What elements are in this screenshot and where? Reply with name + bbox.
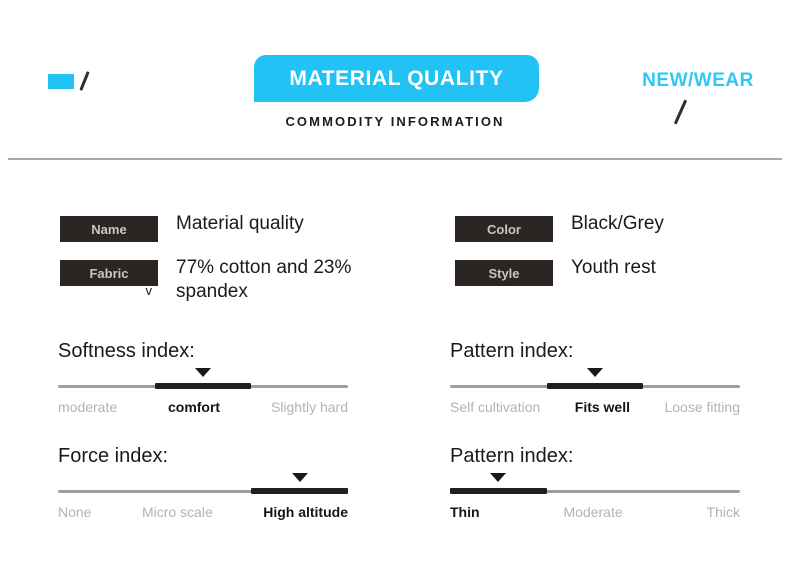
info-value-name: Material quality [176, 212, 304, 236]
slider-marker-icon[interactable] [195, 368, 211, 377]
chip-label: Fabric [89, 266, 128, 281]
slider-option[interactable]: Self cultivation [450, 399, 540, 415]
chip-style: Style [455, 260, 553, 286]
slider-force[interactable]: Force index: None Micro scale High altit… [58, 445, 348, 520]
brand-mark-left [48, 71, 92, 91]
slider-pattern-thick[interactable]: Pattern index: Thin Moderate Thick [450, 445, 740, 520]
slash-icon-wrapper [628, 99, 768, 125]
slider-track-active [547, 383, 644, 389]
info-row-style: Style Youth rest [455, 256, 664, 286]
slider-track[interactable] [450, 482, 740, 500]
info-row-color: Color Black/Grey [455, 212, 664, 242]
slider-options: moderate comfort Slightly hard [58, 399, 348, 415]
slider-marker-icon[interactable] [292, 473, 308, 482]
slider-option[interactable]: Moderate [563, 504, 622, 520]
info-value-color: Black/Grey [571, 212, 664, 236]
slider-track-active [450, 488, 547, 494]
slider-option[interactable]: High altitude [263, 504, 348, 520]
slider-track[interactable] [58, 482, 348, 500]
slider-title: Softness index: [58, 340, 348, 363]
slider-options: None Micro scale High altitude [58, 504, 348, 520]
slider-marker-icon[interactable] [490, 473, 506, 482]
slider-option[interactable]: Fits well [575, 399, 630, 415]
slider-track[interactable] [450, 377, 740, 395]
slider-softness[interactable]: Softness index: moderate comfort Slightl… [58, 340, 348, 415]
new-wear-label: NEW/WEAR [628, 70, 768, 92]
info-row-name: Name Material quality [60, 212, 386, 242]
slider-option[interactable]: Thin [450, 504, 480, 520]
chip-fabric: Fabric v [60, 260, 158, 286]
slider-option[interactable]: None [58, 504, 91, 520]
page-header: MATERIAL QUALITY COMMODITY INFORMATION N… [0, 0, 790, 158]
new-wear-mark: NEW/WEAR [628, 70, 768, 125]
material-quality-banner: MATERIAL QUALITY [254, 55, 539, 102]
slash-icon [78, 71, 92, 91]
info-row-fabric: Fabric v 77% cotton and 23% spandex [60, 256, 386, 305]
slider-option[interactable]: Thick [707, 504, 740, 520]
slider-options: Self cultivation Fits well Loose fitting [450, 399, 740, 415]
info-value-fabric: 77% cotton and 23% spandex [176, 256, 386, 305]
info-value-style: Youth rest [571, 256, 656, 280]
slider-option[interactable]: comfort [168, 399, 220, 415]
banner-title: MATERIAL QUALITY [289, 67, 503, 91]
slider-option[interactable]: Slightly hard [271, 399, 348, 415]
slider-marker-icon[interactable] [587, 368, 603, 377]
chip-name: Name [60, 216, 158, 242]
slider-option[interactable]: moderate [58, 399, 117, 415]
stray-glyph: v [146, 284, 153, 297]
slash-icon [672, 99, 690, 125]
chip-label: Name [91, 222, 126, 237]
slider-track-active [251, 488, 348, 494]
slider-options: Thin Moderate Thick [450, 504, 740, 520]
slider-track[interactable] [58, 377, 348, 395]
chip-label: Style [488, 266, 519, 281]
slider-title: Pattern index: [450, 445, 740, 468]
slider-title: Force index: [58, 445, 348, 468]
color-swatch-icon [48, 74, 74, 89]
slider-pattern-fit[interactable]: Pattern index: Self cultivation Fits wel… [450, 340, 740, 415]
slider-track-active [155, 383, 252, 389]
header-divider [8, 158, 782, 160]
info-column-left: Name Material quality Fabric v 77% cotto… [60, 212, 386, 319]
info-column-right: Color Black/Grey Style Youth rest [455, 212, 664, 300]
slider-title: Pattern index: [450, 340, 740, 363]
chip-color: Color [455, 216, 553, 242]
slider-option[interactable]: Micro scale [142, 504, 213, 520]
slider-option[interactable]: Loose fitting [664, 399, 740, 415]
chip-label: Color [487, 222, 521, 237]
